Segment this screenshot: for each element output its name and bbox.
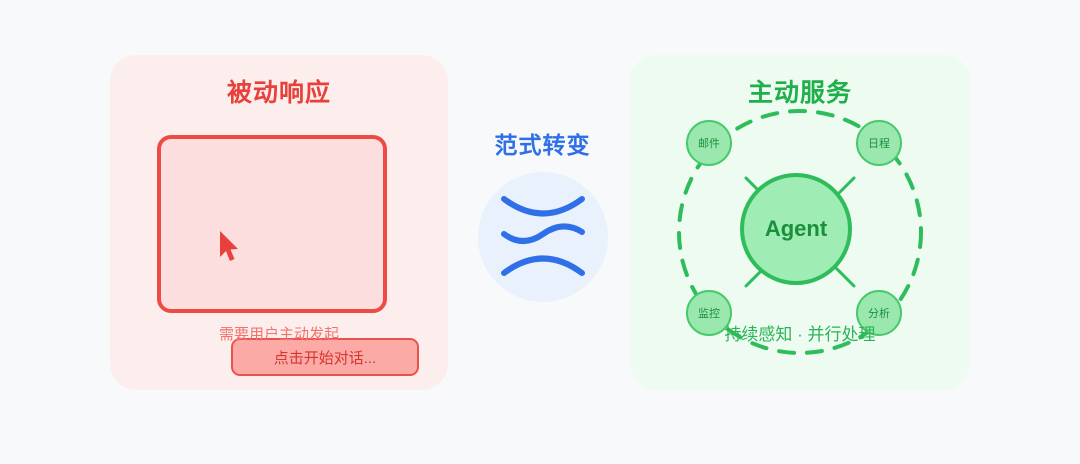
orbit-node-analysis-label: 分析 — [868, 305, 890, 321]
proactive-panel-title: 主动服务 — [630, 73, 970, 109]
proactive-panel-caption: 持续感知 · 并行处理 — [630, 320, 970, 345]
three-wave-arcs-icon — [478, 172, 608, 302]
proactive-service-panel: 主动服务 邮件 日程 监控 分析 Agent 持续感知 · 并行处理 — [630, 55, 970, 390]
orbit-node-monitor-label: 监控 — [698, 305, 720, 321]
mouse-pointer-icon — [218, 230, 240, 264]
chat-window-mock: 点击开始对话... — [157, 135, 387, 313]
diagram-canvas: 被动响应 点击开始对话... 需要用户主动发起 范式转变 主动服务 — [0, 0, 1080, 464]
orbit-node-email-label: 邮件 — [698, 135, 720, 151]
orbit-node-calendar-label: 日程 — [868, 135, 890, 151]
passive-panel-title: 被动响应 — [110, 73, 448, 109]
orbit-node-calendar[interactable]: 日程 — [856, 120, 902, 166]
passive-response-panel: 被动响应 点击开始对话... 需要用户主动发起 — [110, 55, 448, 390]
orbit-node-email[interactable]: 邮件 — [686, 120, 732, 166]
paradigm-shift-title: 范式转变 — [460, 126, 625, 160]
paradigm-shift-icon-container — [478, 172, 608, 302]
agent-core-node[interactable]: Agent — [740, 173, 852, 285]
passive-panel-caption: 需要用户主动发起 — [110, 323, 448, 344]
